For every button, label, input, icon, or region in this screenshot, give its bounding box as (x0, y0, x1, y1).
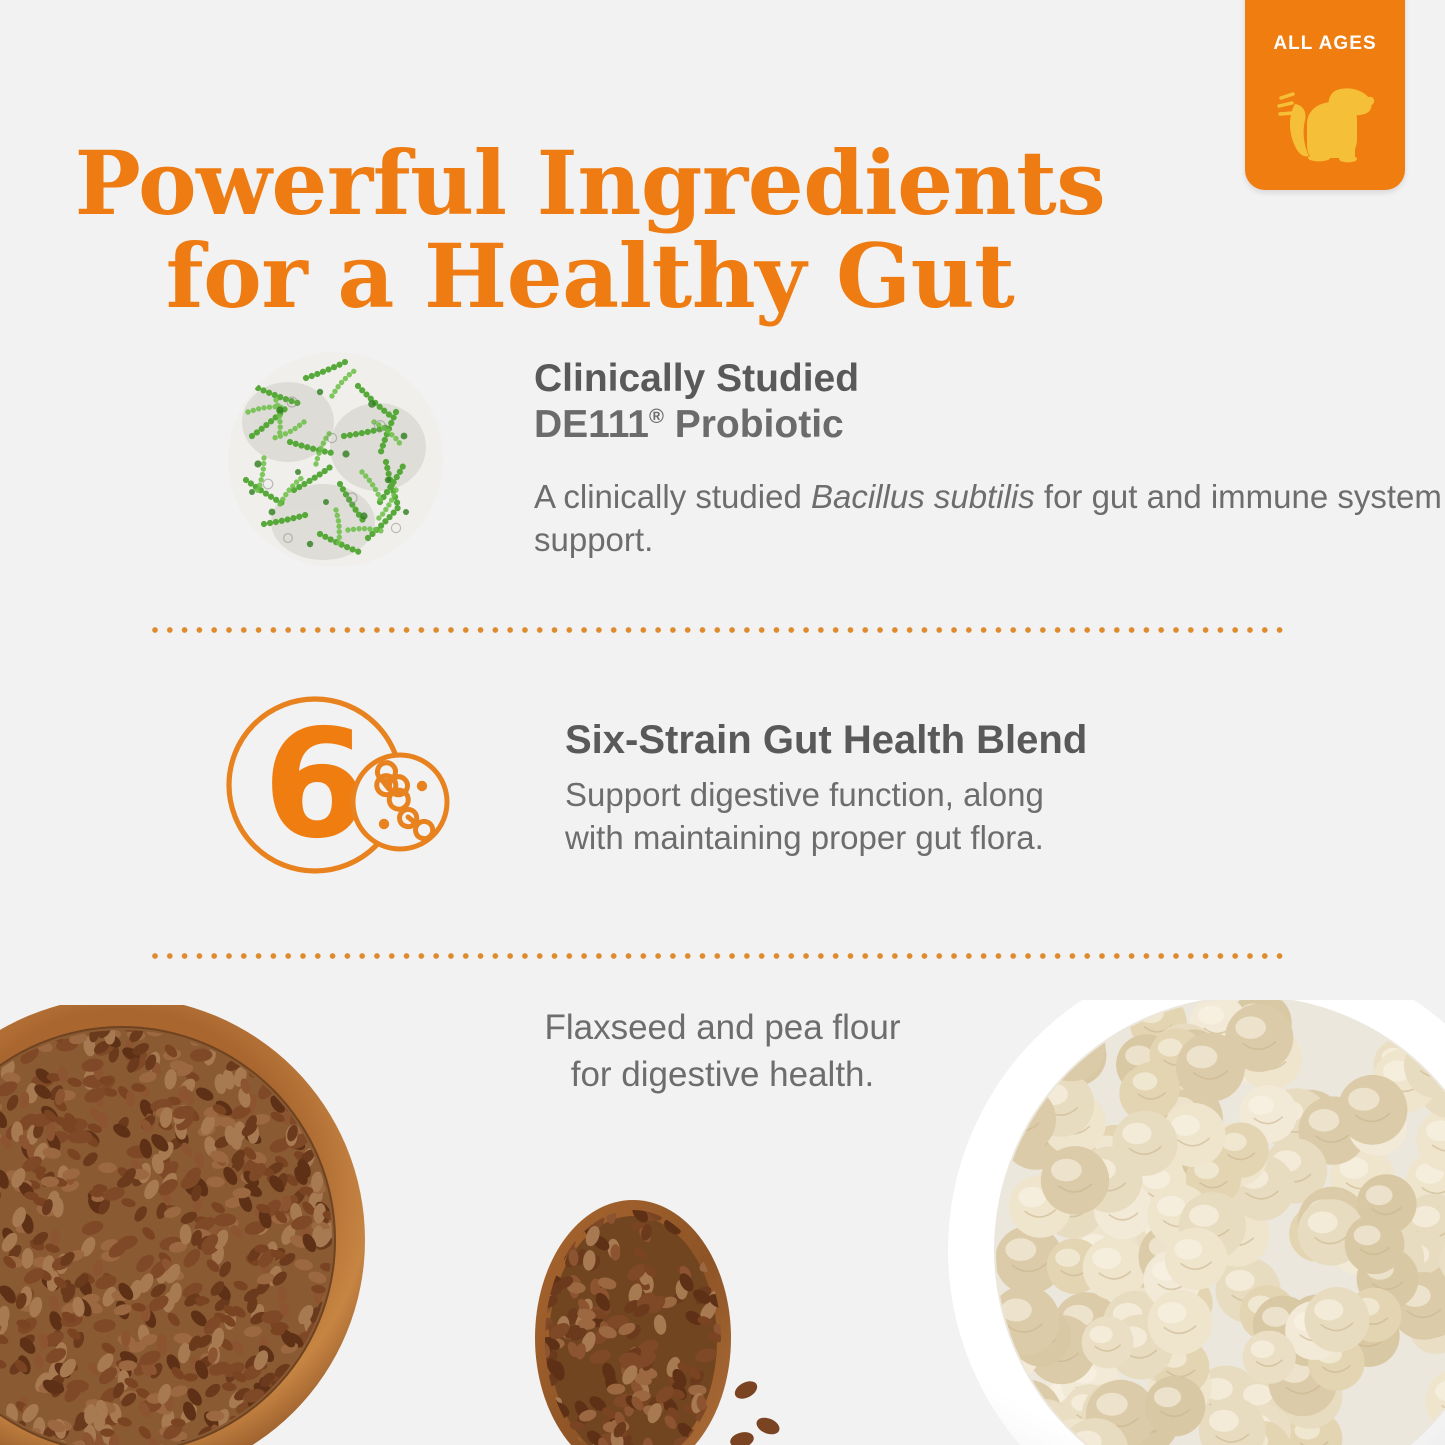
feature-1-title-line-2: DE111® Probiotic (534, 402, 1445, 448)
feature-1-text: Clinically Studied DE111® Probiotic A cl… (534, 356, 1445, 562)
caption-line-2: for digestive health. (571, 1055, 875, 1094)
feature-row-probiotic: Clinically Studied DE111® Probiotic A cl… (228, 352, 1445, 567)
all-ages-label: ALL AGES (1273, 33, 1376, 55)
divider-2 (152, 952, 1290, 960)
six-strain-icon: 6 (222, 690, 472, 880)
flaxseed-spoon-photo (528, 1168, 828, 1445)
feature-2-body: Support digestive function, along with m… (565, 774, 1087, 860)
feature-2-body-line-1: Support digestive function, along (565, 776, 1044, 813)
probiotic-text: Probiotic (664, 403, 844, 446)
caption-line-1: Flaxseed and pea flour (544, 1008, 900, 1047)
feature-1-body: A clinically studied Bacillus subtilis f… (534, 476, 1445, 562)
feature-1-body-prefix: A clinically studied (534, 478, 811, 515)
feature-1-title: Clinically Studied DE111® Probiotic (534, 356, 1445, 448)
loose-seeds (729, 1378, 782, 1445)
feature-2-text: Six-Strain Gut Health Blend Support dige… (565, 717, 1087, 860)
bacillus-microscopy-image (228, 352, 443, 567)
feature-2-title: Six-Strain Gut Health Blend (565, 717, 1087, 764)
infographic-canvas: ALL AGES (0, 0, 1445, 1445)
divider-1 (152, 626, 1290, 634)
de111-text: DE111 (534, 403, 649, 446)
all-ages-badge: ALL AGES (1245, 0, 1405, 190)
chickpea-bowl-photo (948, 1000, 1445, 1445)
six-number: 6 (263, 698, 367, 872)
headline-line-1: Powerful Ingredients (75, 131, 1106, 235)
six-strain-graphic: 6 (222, 690, 472, 880)
flaxseed-bowl-photo (0, 1005, 422, 1445)
feature-row-six-strain: 6 Six-Strain Gut Health Blend (222, 690, 1087, 880)
bacillus-microscopy-icon (228, 352, 443, 567)
page-title: Powerful Ingredients for a Healthy Gut (0, 137, 1180, 324)
species-name: Bacillus subtilis (811, 478, 1035, 515)
headline-line-2: for a Healthy Gut (0, 230, 1180, 323)
sitting-dog-icon (1271, 68, 1379, 168)
feature-2-body-line-2: with maintaining proper gut flora. (565, 819, 1044, 856)
registered-mark-icon: ® (649, 406, 664, 428)
feature-1-title-line-1: Clinically Studied (534, 357, 859, 400)
